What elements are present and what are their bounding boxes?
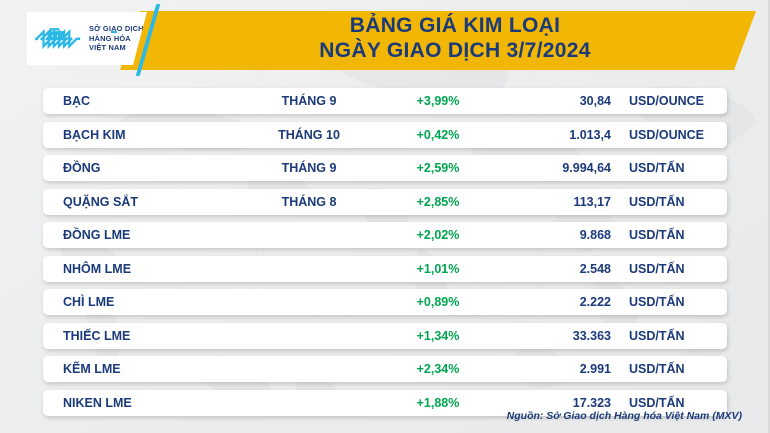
row-change-percent: +2,34% [379, 362, 497, 376]
table-row[interactable]: ĐỒNG LME+2,02%9.868USD/TẤN [43, 222, 727, 248]
row-contract-month: THÁNG 8 [239, 195, 379, 209]
header-banner: SỞ GIAO DỊCH HÀNG HÓA VIỆT NAM BẢNG GIÁ … [0, 0, 770, 80]
row-unit: USD/TẤN [611, 295, 727, 309]
table-row[interactable]: NHÔM LME+1,01%2.548USD/TẤN [43, 256, 727, 282]
price-table: BẠCTHÁNG 9+3,99%30,84USD/OUNCEBẠCH KIMTH… [0, 88, 770, 423]
row-price: 17.323 [497, 396, 611, 410]
row-price: 33.363 [497, 329, 611, 343]
page-title: BẢNG GIÁ KIM LOẠI NGÀY GIAO DỊCH 3/7/202… [160, 14, 750, 64]
row-commodity-name: NIKEN LME [43, 396, 239, 410]
row-price: 9.868 [497, 228, 611, 242]
brand-logo-line3: VIỆT NAM [89, 43, 144, 53]
row-commodity-name: NHÔM LME [43, 262, 239, 276]
table-row[interactable]: BẠCTHÁNG 9+3,99%30,84USD/OUNCE [43, 88, 727, 114]
row-commodity-name: ĐỒNG [43, 161, 239, 175]
row-change-percent: +3,99% [379, 94, 497, 108]
table-row[interactable]: QUẶNG SẮTTHÁNG 8+2,85%113,17USD/TẤN [43, 189, 727, 215]
table-row[interactable]: KẼM LME+2,34%2.991USD/TẤN [43, 356, 727, 382]
row-commodity-name: THIẾC LME [43, 329, 239, 343]
table-row[interactable]: ĐỒNGTHÁNG 9+2,59%9.994,64USD/TẤN [43, 155, 727, 181]
row-change-percent: +0,89% [379, 295, 497, 309]
row-unit: USD/TẤN [611, 396, 727, 410]
row-price: 1.013,4 [497, 128, 611, 142]
page-title-line1: BẢNG GIÁ KIM LOẠI [160, 14, 750, 39]
mxv-maze-logo-icon [33, 22, 85, 56]
row-change-percent: +2,02% [379, 228, 497, 242]
row-commodity-name: KẼM LME [43, 362, 239, 376]
row-change-percent: +0,42% [379, 128, 497, 142]
row-unit: USD/TẤN [611, 228, 727, 242]
row-unit: USD/TẤN [611, 329, 727, 343]
row-commodity-name: QUẶNG SẮT [43, 195, 239, 209]
brand-logo-line2: HÀNG HÓA [89, 34, 144, 44]
row-change-percent: +2,85% [379, 195, 497, 209]
row-change-percent: +1,88% [379, 396, 497, 410]
row-unit: USD/OUNCE [611, 128, 727, 142]
table-row[interactable]: BẠCH KIMTHÁNG 10+0,42%1.013,4USD/OUNCE [43, 122, 727, 148]
row-price: 2.991 [497, 362, 611, 376]
row-price: 30,84 [497, 94, 611, 108]
row-commodity-name: BẠC [43, 94, 239, 108]
table-row[interactable]: CHÌ LME+0,89%2.222USD/TẤN [43, 289, 727, 315]
row-price: 2.222 [497, 295, 611, 309]
row-unit: USD/TẤN [611, 195, 727, 209]
row-unit: USD/TẤN [611, 161, 727, 175]
row-change-percent: +1,01% [379, 262, 497, 276]
row-price: 2.548 [497, 262, 611, 276]
row-unit: USD/TẤN [611, 362, 727, 376]
row-change-percent: +1,34% [379, 329, 497, 343]
logo-tick-icon [111, 31, 117, 33]
page-title-line2: NGÀY GIAO DỊCH 3/7/2024 [160, 39, 750, 64]
row-change-percent: +2,59% [379, 161, 497, 175]
brand-logo-card: SỞ GIAO DỊCH HÀNG HÓA VIỆT NAM [27, 12, 147, 65]
row-price: 113,17 [497, 195, 611, 209]
row-commodity-name: BẠCH KIM [43, 128, 239, 142]
row-contract-month: THÁNG 10 [239, 128, 379, 142]
row-unit: USD/OUNCE [611, 94, 727, 108]
table-row[interactable]: THIẾC LME+1,34%33.363USD/TẤN [43, 323, 727, 349]
row-price: 9.994,64 [497, 161, 611, 175]
row-contract-month: THÁNG 9 [239, 94, 379, 108]
row-contract-month: THÁNG 9 [239, 161, 379, 175]
brand-logo-text: SỞ GIAO DỊCH HÀNG HÓA VIỆT NAM [89, 24, 144, 54]
row-unit: USD/TẤN [611, 262, 727, 276]
row-commodity-name: CHÌ LME [43, 295, 239, 309]
metal-price-board: SỞ GIAO DỊCH HÀNG HÓA VIỆT NAM BẢNG GIÁ … [0, 0, 770, 433]
row-commodity-name: ĐỒNG LME [43, 228, 239, 242]
source-note: Nguồn: Sở Giao dịch Hàng hóa Việt Nam (M… [507, 410, 742, 422]
